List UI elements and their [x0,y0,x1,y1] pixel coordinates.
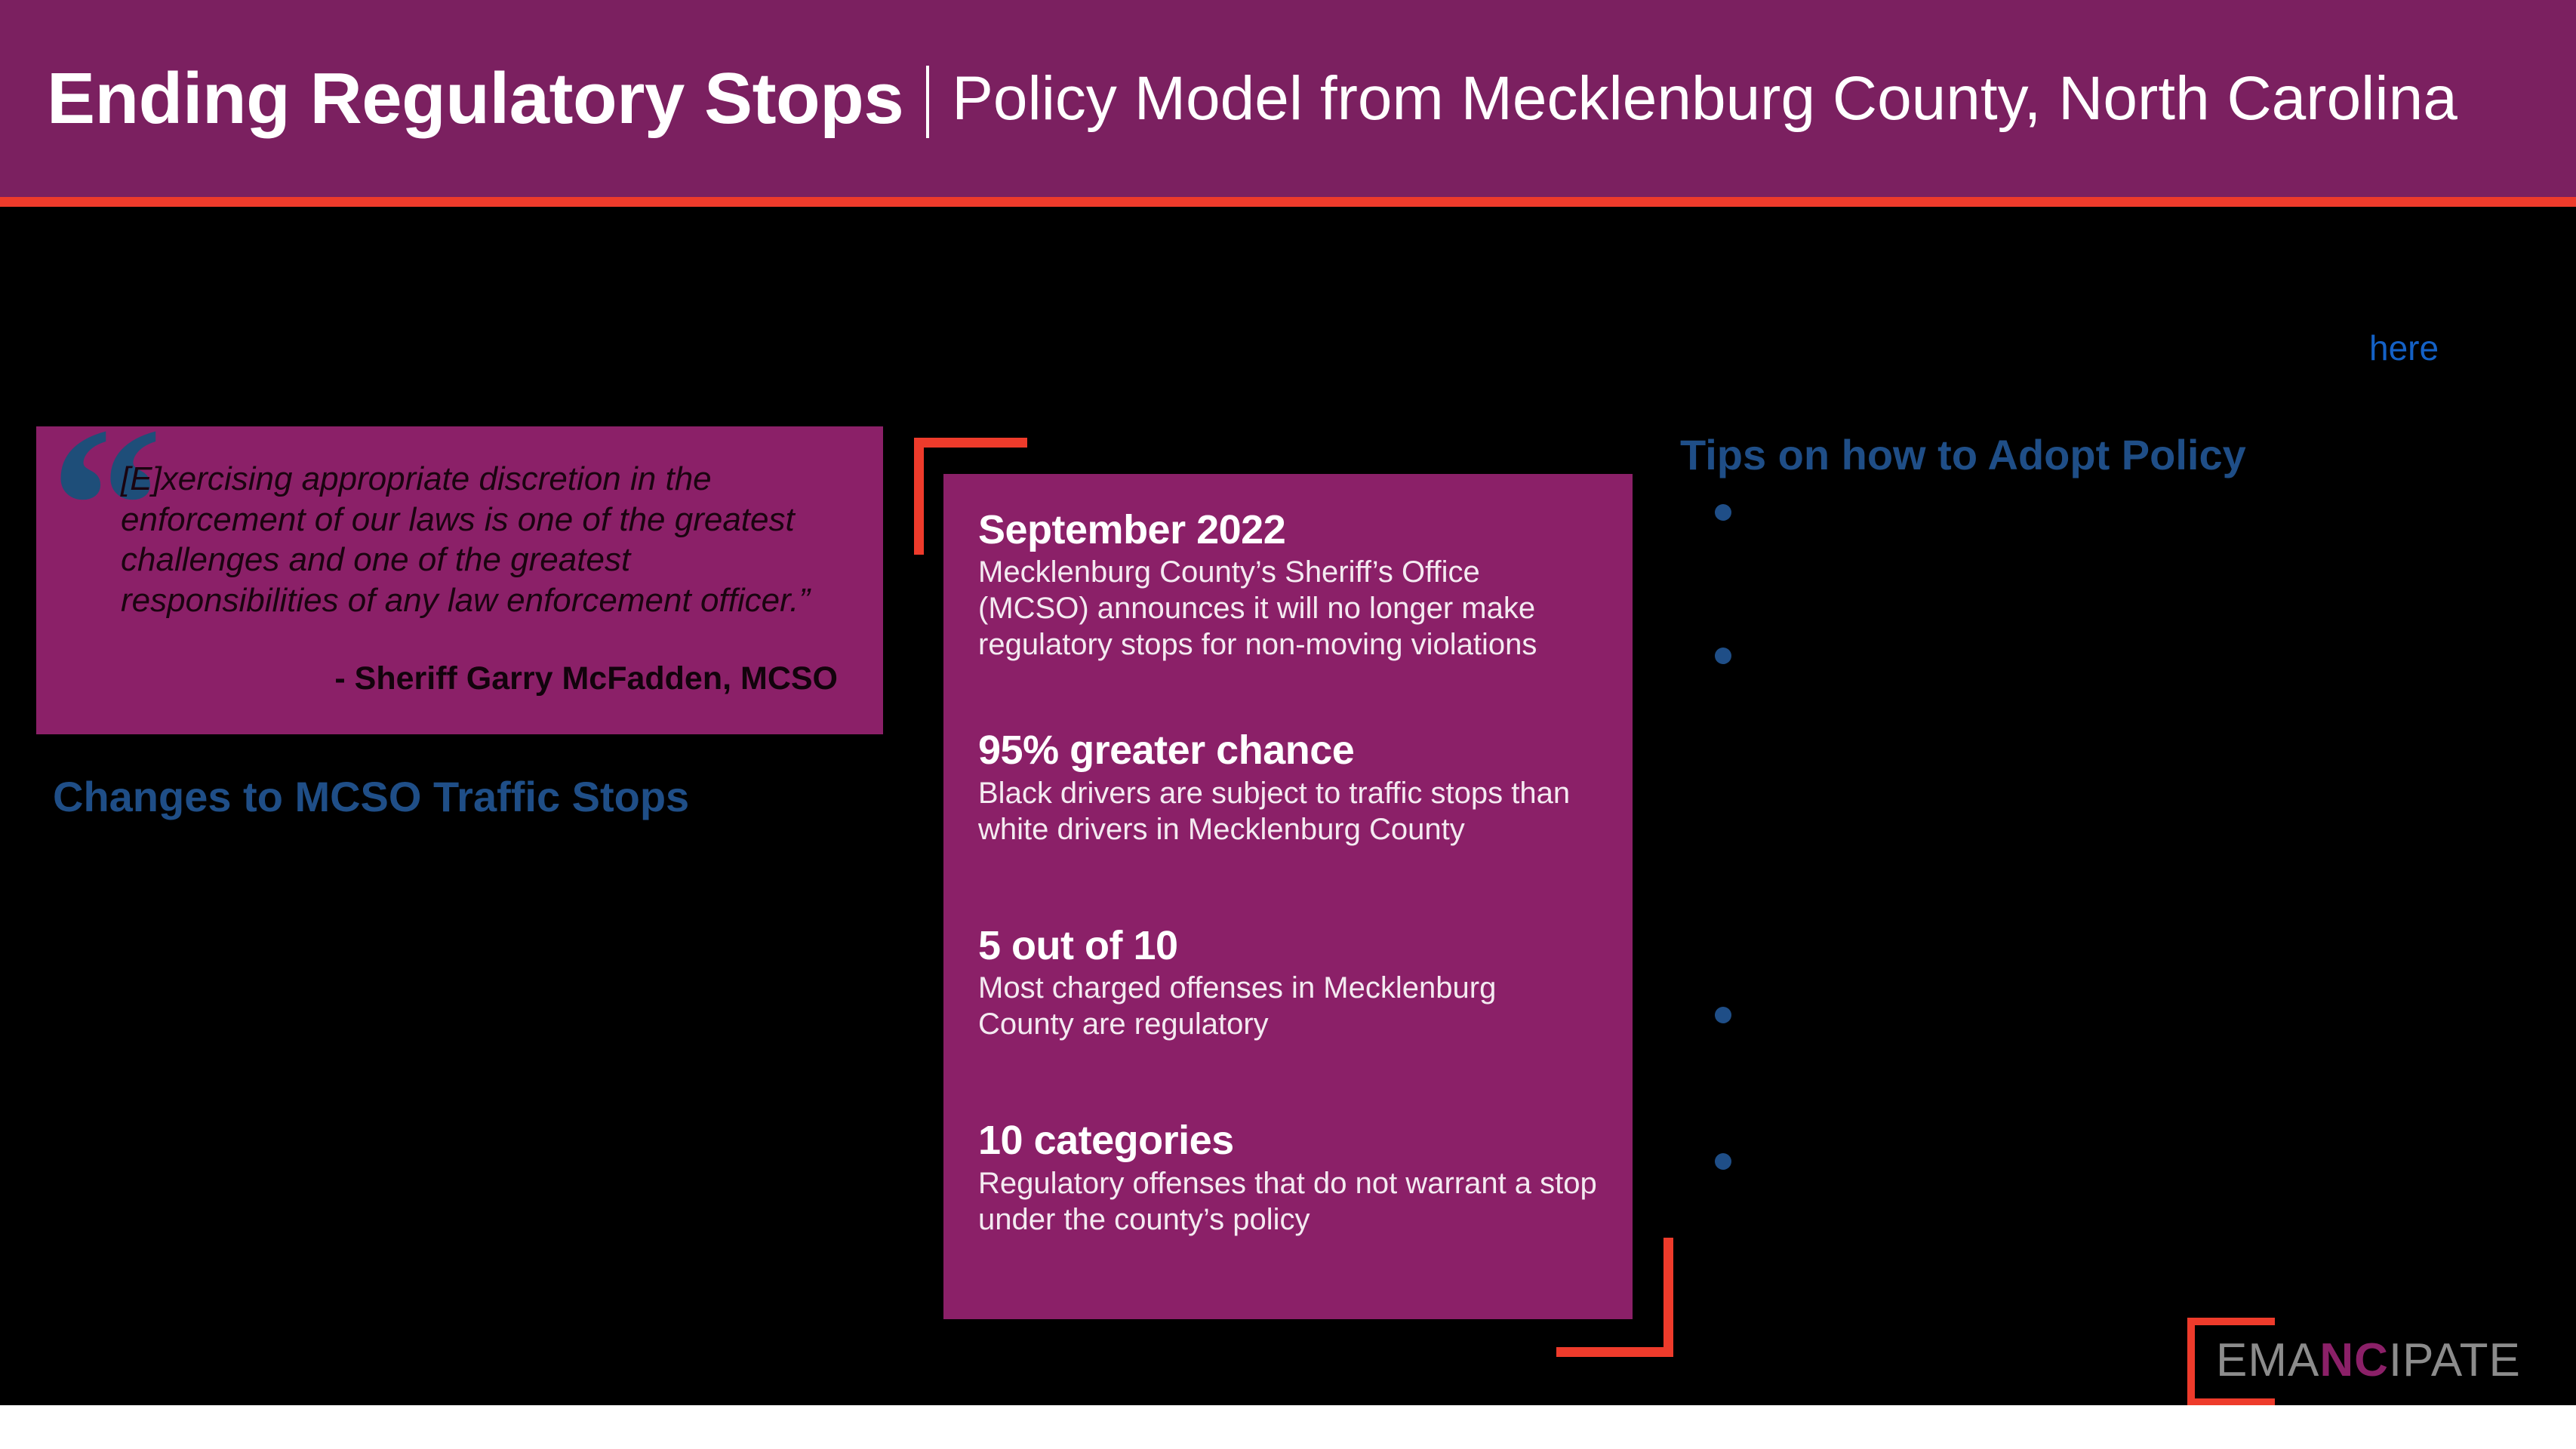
stat-headline: 95% greater chance [978,728,1598,773]
logo-text-part1: EMA [2216,1334,2319,1386]
stat-item: September 2022 Mecklenburg County’s Sher… [978,507,1598,663]
stat-body: Mecklenburg County’s Sheriff’s Office (M… [978,554,1598,663]
stat-headline: September 2022 [978,507,1598,552]
list-item [1704,1147,2534,1165]
stat-body: Black drivers are subject to traffic sto… [978,775,1598,848]
stat-item: 10 categories Regulatory offenses that d… [978,1118,1598,1237]
list-item [1704,1001,2534,1019]
list-item [1704,641,2534,660]
header-content: Ending Regulatory Stops Policy Model fro… [47,0,2458,197]
page-title: Ending Regulatory Stops [47,63,903,135]
header-accent-rule [0,197,2576,207]
slide-canvas: Ending Regulatory Stops Policy Model fro… [0,0,2576,1449]
emancipate-logo: EMANCIPATE [2187,1318,2550,1408]
logo-wordmark: EMANCIPATE [2216,1337,2521,1384]
header-divider [926,66,929,138]
stat-item: 5 out of 10 Most charged offenses in Mec… [978,923,1598,1042]
stat-body: Most charged offenses in Mecklenburg Cou… [978,970,1598,1042]
heading-tips-on-how-to-adopt-policy: Tips on how to Adopt Policy [1680,432,2246,478]
tips-bullet-list [1704,498,2534,1165]
bottom-white-strip [0,1405,2576,1449]
statistics-card: September 2022 Mecklenburg County’s Sher… [943,474,1633,1319]
header-band: Ending Regulatory Stops Policy Model fro… [0,0,2576,197]
quote-text: [E]xercising appropriate discretion in t… [121,459,838,621]
logo-text-part3: IPATE [2389,1334,2521,1386]
list-item [1704,498,2534,516]
quote-attribution: - Sheriff Garry McFadden, MCSO [121,660,838,699]
page-subtitle: Policy Model from Mecklenburg County, No… [952,68,2458,130]
here-link[interactable]: here [2369,331,2439,365]
stat-item: 95% greater chance Black drivers are sub… [978,728,1598,847]
logo-text-nc: NC [2319,1334,2389,1386]
stat-body: Regulatory offenses that do not warrant … [978,1165,1598,1238]
stat-headline: 10 categories [978,1118,1598,1163]
heading-changes-to-mcso-traffic-stops: Changes to MCSO Traffic Stops [53,774,689,820]
stat-headline: 5 out of 10 [978,923,1598,968]
